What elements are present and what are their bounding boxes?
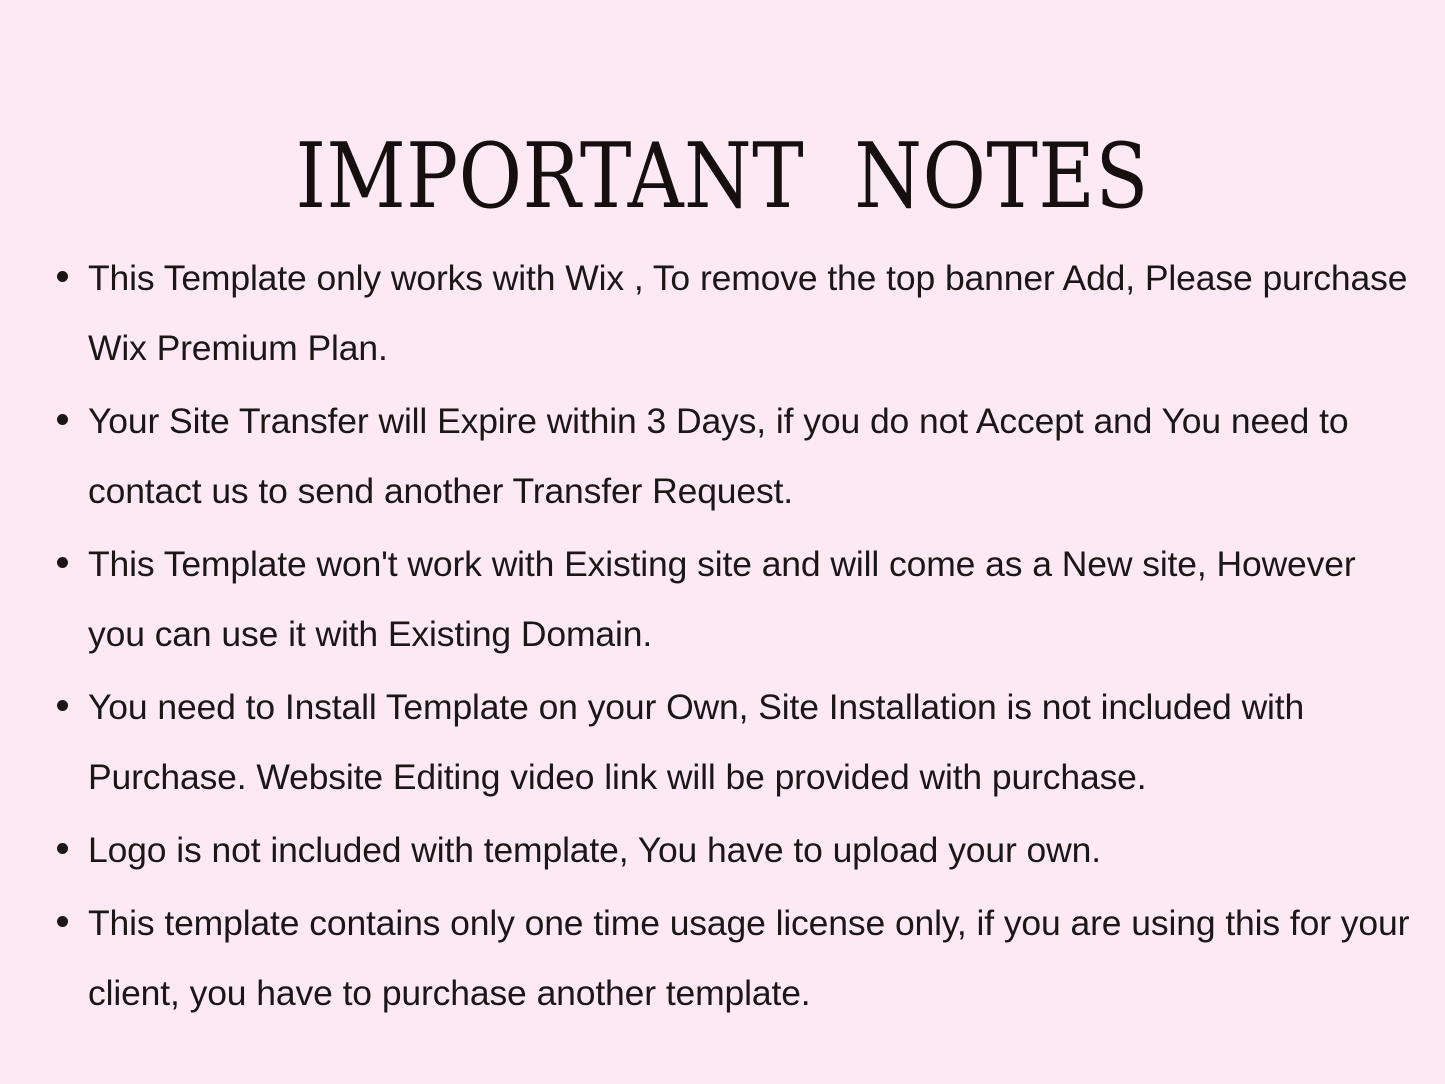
list-item-text: This Template won't work with Existing s… xyxy=(88,529,1418,669)
list-item-text: Logo is not included with template, You … xyxy=(88,815,1418,885)
bullet-icon xyxy=(57,916,68,927)
list-item: This template contains only one time usa… xyxy=(46,888,1418,1028)
list-item-text: This Template only works with Wix , To r… xyxy=(88,243,1418,383)
list-item: Your Site Transfer will Expire within 3 … xyxy=(46,386,1418,526)
list-item-text: This template contains only one time usa… xyxy=(88,888,1418,1028)
bullet-icon xyxy=(57,557,68,568)
page-title: IMPORTANT NOTES xyxy=(296,132,1149,222)
important-notes-page: IMPORTANT NOTES This Template only works… xyxy=(0,0,1445,1084)
notes-list: This Template only works with Wix , To r… xyxy=(46,243,1418,1031)
list-item: This Template won't work with Existing s… xyxy=(46,529,1418,669)
bullet-icon xyxy=(57,271,68,282)
bullet-icon xyxy=(57,414,68,425)
bullet-icon xyxy=(57,700,68,711)
list-item: You need to Install Template on your Own… xyxy=(46,672,1418,812)
list-item: This Template only works with Wix , To r… xyxy=(46,243,1418,383)
list-item-text: You need to Install Template on your Own… xyxy=(88,672,1418,812)
bullet-icon xyxy=(57,843,68,854)
list-item-text: Your Site Transfer will Expire within 3 … xyxy=(88,386,1418,526)
list-item: Logo is not included with template, You … xyxy=(46,815,1418,885)
